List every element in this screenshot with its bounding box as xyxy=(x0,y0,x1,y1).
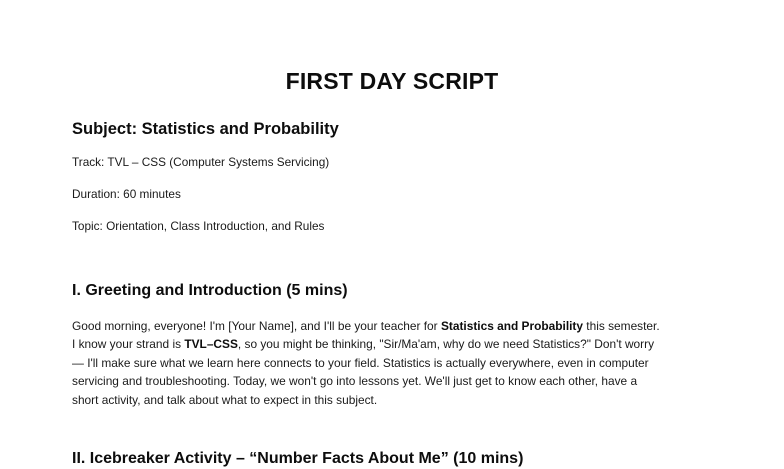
paragraph-bold-subject: Statistics and Probability xyxy=(441,319,583,333)
document-page: FIRST DAY SCRIPT Subject: Statistics and… xyxy=(0,0,784,441)
section-heading-icebreaker: II. Icebreaker Activity – “Number Facts … xyxy=(64,449,720,469)
subject-heading: Subject: Statistics and Probability xyxy=(64,96,720,140)
metadata-topic: Topic: Orientation, Class Introduction, … xyxy=(72,219,720,235)
section-heading-greeting: I. Greeting and Introduction (5 mins) xyxy=(64,281,720,301)
paragraph-text-part-1: Good morning, everyone! I'm [Your Name],… xyxy=(72,319,441,333)
metadata-duration: Duration: 60 minutes xyxy=(72,187,720,203)
section-paragraph-greeting: Good morning, everyone! I'm [Your Name],… xyxy=(64,317,720,409)
document-metadata: Track: TVL – CSS (Computer Systems Servi… xyxy=(64,155,720,235)
metadata-track: Track: TVL – CSS (Computer Systems Servi… xyxy=(72,155,720,171)
page-title: FIRST DAY SCRIPT xyxy=(64,0,720,96)
paragraph-bold-strand: TVL–CSS xyxy=(184,337,238,351)
